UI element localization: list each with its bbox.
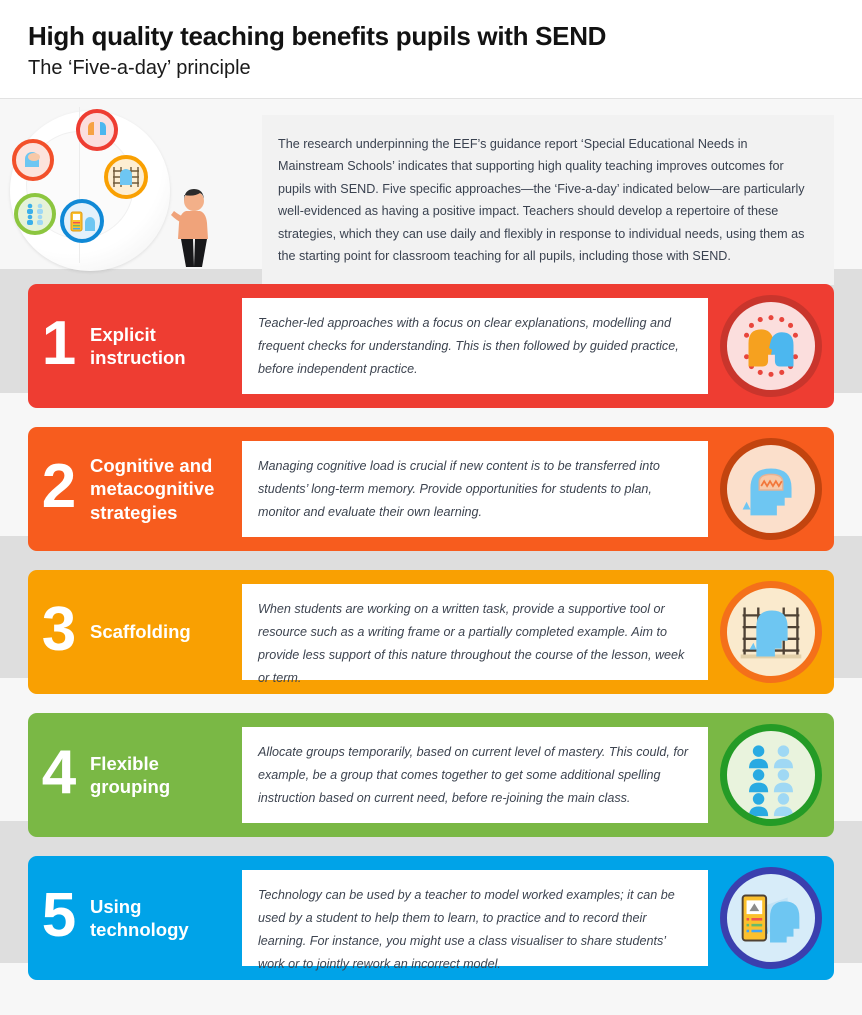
row-icon-slot-1 <box>708 284 834 408</box>
plate-chip-using-technology-icon <box>60 199 104 243</box>
intro-block: The research underpinning the EEF’s guid… <box>0 105 862 275</box>
strategy-row-2[interactable]: 2 Cognitive and metacognitive strategies… <box>28 427 834 551</box>
row-number-4: 4 <box>28 713 90 837</box>
strategy-row-1[interactable]: 1 Explicit instruction Teacher-led appro… <box>28 284 834 408</box>
row-heading-5: Using technology <box>90 856 242 980</box>
strategy-row-5[interactable]: 5 Using technology Technology can be use… <box>28 856 834 980</box>
row-description-2: Managing cognitive load is crucial if ne… <box>242 441 708 537</box>
page-subtitle: The ‘Five-a-day’ principle <box>28 56 862 80</box>
tablet-device-and-head-icon <box>720 867 822 969</box>
row-description-1: Teacher-led approaches with a focus on c… <box>242 298 708 394</box>
row-heading-3: Scaffolding <box>90 570 242 694</box>
plate-chip-scaffolding-icon <box>104 155 148 199</box>
page-header: High quality teaching benefits pupils wi… <box>0 0 862 98</box>
strategy-row-4[interactable]: 4 Flexible grouping Allocate groups temp… <box>28 713 834 837</box>
head-with-scaffolding-icon <box>720 581 822 683</box>
row-heading-1: Explicit instruction <box>90 284 242 408</box>
page-title: High quality teaching benefits pupils wi… <box>28 22 862 52</box>
row-icon-slot-2 <box>708 427 834 551</box>
teacher-figure-icon <box>168 177 220 269</box>
row-icon-slot-4 <box>708 713 834 837</box>
row-description-5: Technology can be used by a teacher to m… <box>242 870 708 966</box>
row-icon-slot-5 <box>708 856 834 980</box>
row-number-3: 3 <box>28 570 90 694</box>
row-icon-slot-3 <box>708 570 834 694</box>
strategy-row-3[interactable]: 3 Scaffolding When students are working … <box>28 570 834 694</box>
row-number-1: 1 <box>28 284 90 408</box>
plate-chip-explicit-instruction-icon <box>76 109 118 151</box>
two-facing-heads-icon <box>720 295 822 397</box>
plate-illustration <box>0 105 250 270</box>
head-with-brain-icon <box>720 438 822 540</box>
plate-chip-flexible-grouping-icon <box>14 193 56 235</box>
row-number-5: 5 <box>28 856 90 980</box>
plate-chip-metacognition-icon <box>12 139 54 181</box>
row-heading-4: Flexible grouping <box>90 713 242 837</box>
row-description-3: When students are working on a written t… <box>242 584 708 680</box>
row-number-2: 2 <box>28 427 90 551</box>
row-description-4: Allocate groups temporarily, based on cu… <box>242 727 708 823</box>
six-people-group-icon <box>720 724 822 826</box>
row-heading-2: Cognitive and metacognitive strategies <box>90 427 242 551</box>
intro-paragraph: The research underpinning the EEF’s guid… <box>262 115 834 285</box>
infographic-canvas: The research underpinning the EEF’s guid… <box>0 98 862 1015</box>
